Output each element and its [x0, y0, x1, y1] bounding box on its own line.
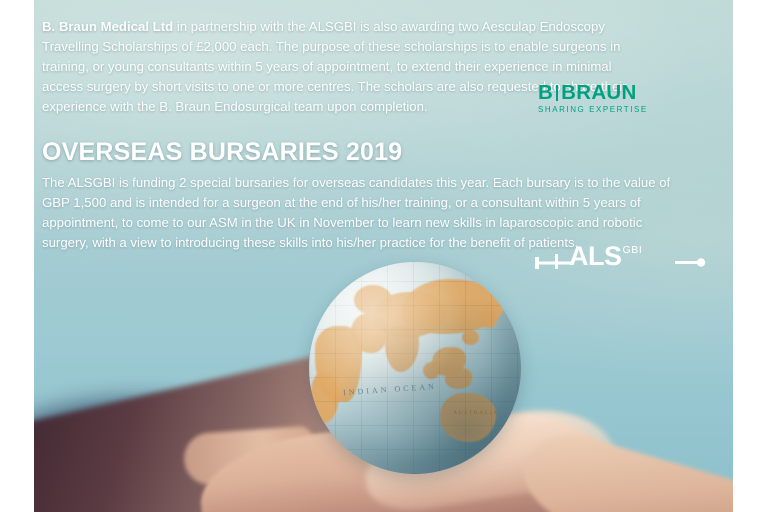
- intro-bold-lead: B. Braun Medical Ltd: [42, 19, 173, 34]
- poster-root: INDIAN OCEAN AUSTRALIA B. Braun Medical …: [0, 0, 768, 512]
- bbraun-letter-b: B: [538, 81, 553, 104]
- page-margin-left: [0, 0, 34, 512]
- bbraun-word-braun: BRAUN: [561, 81, 637, 104]
- text-layer: B. Braun Medical Ltd in partnership with…: [0, 0, 699, 512]
- bbraun-wordmark: BBRAUN: [538, 83, 648, 103]
- alsgbi-wordmark: ALS GBI: [569, 243, 642, 270]
- page-title: OVERSEAS BURSARIES 2019: [42, 138, 402, 167]
- bbraun-tagline: SHARING EXPERTISE: [538, 105, 648, 114]
- alsgbi-text-als: ALS: [569, 243, 622, 270]
- bbraun-divider-bar: [556, 85, 558, 101]
- bbraun-logo: BBRAUN SHARING EXPERTISE: [538, 83, 648, 114]
- alsgbi-text-gbi: GBI: [623, 244, 643, 256]
- page-margin-right: [733, 0, 768, 512]
